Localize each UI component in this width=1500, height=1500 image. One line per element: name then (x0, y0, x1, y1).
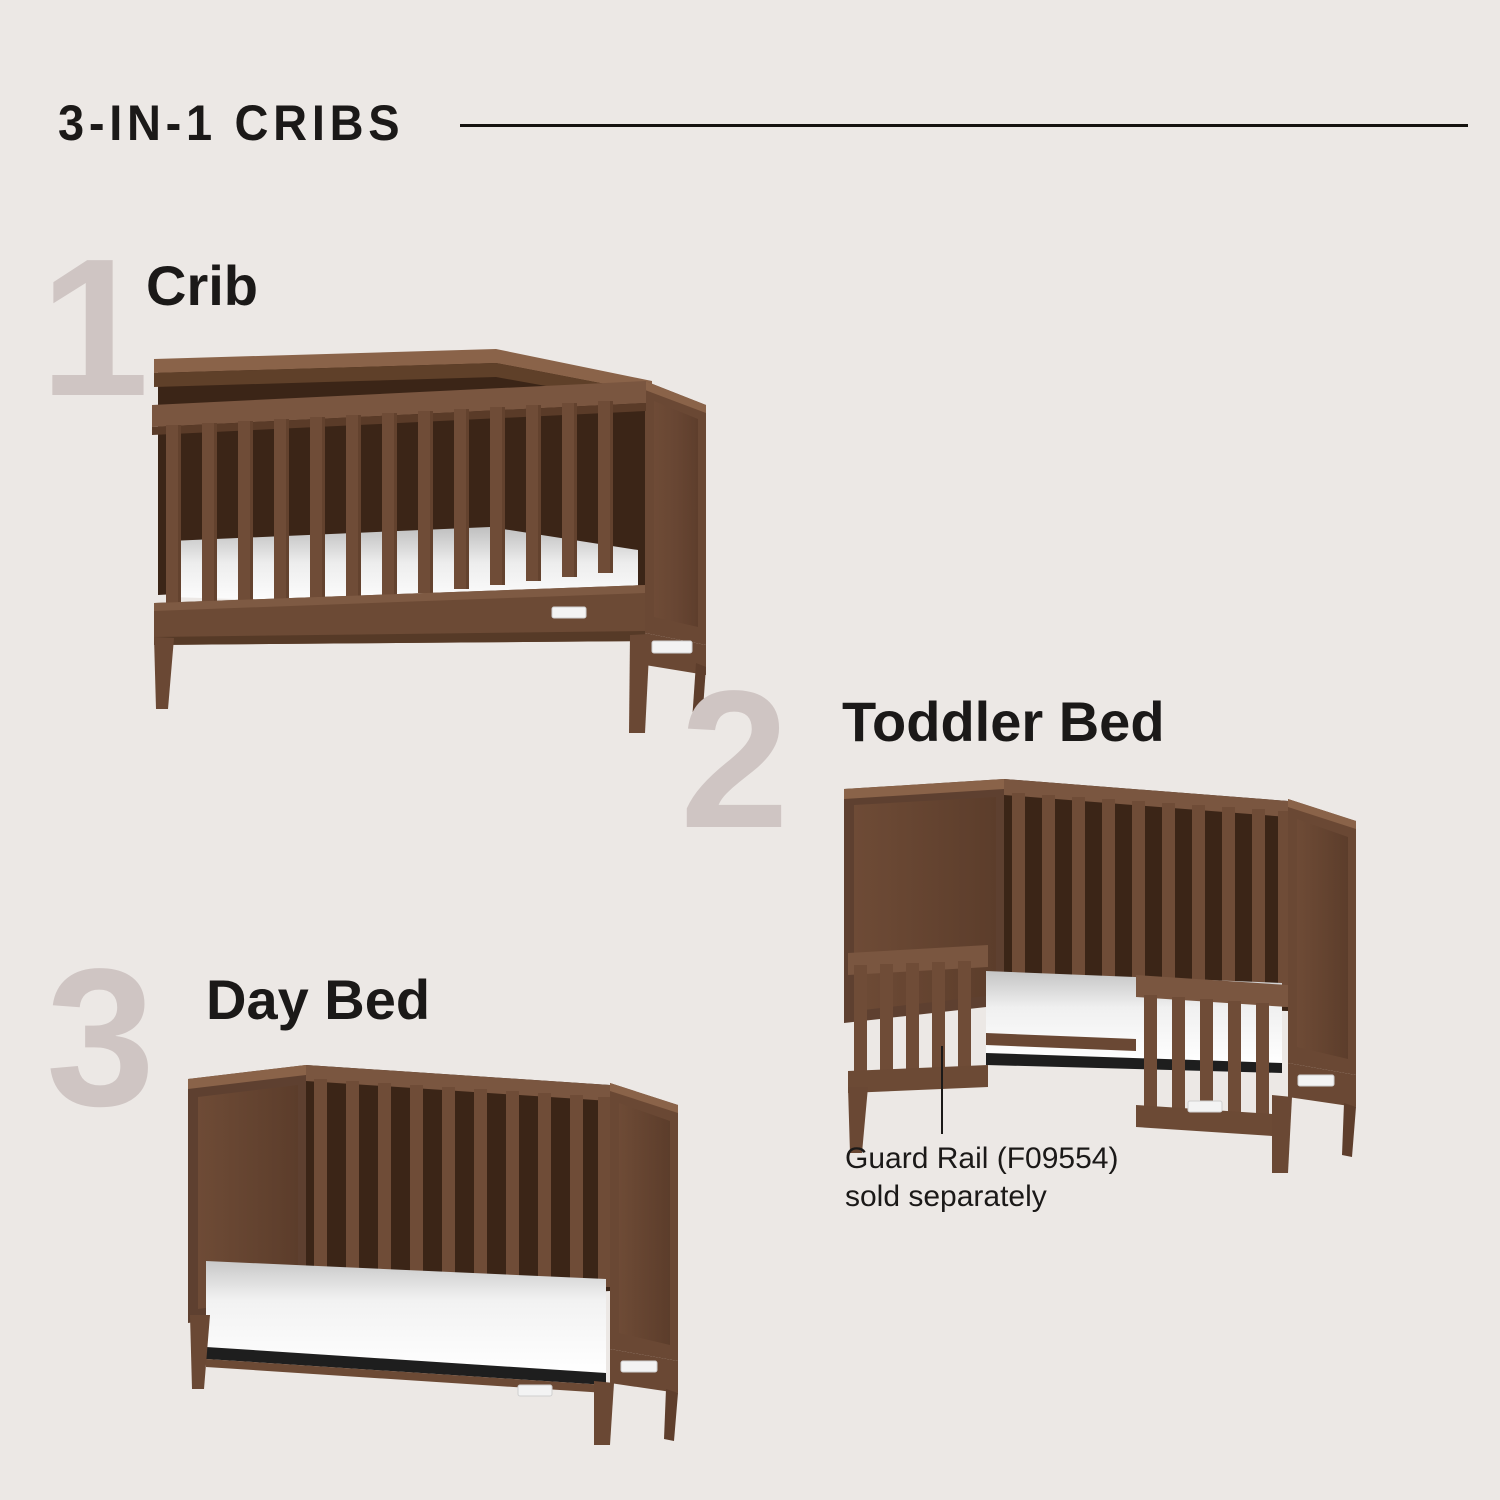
toddler-bed-illustration (836, 775, 1428, 1175)
infographic-canvas: 3-IN-1 CRIBS 1 Crib (0, 0, 1500, 1500)
step-number-2: 2 (680, 684, 785, 837)
header-divider-line (460, 124, 1468, 127)
step-label-crib: Crib (146, 258, 258, 314)
step-number-1: 1 (40, 252, 145, 405)
header: 3-IN-1 CRIBS (58, 92, 1468, 154)
crib-illustration (140, 345, 710, 735)
step-number-3: 3 (46, 962, 151, 1115)
step-label-day-bed: Day Bed (206, 972, 430, 1028)
page-title: 3-IN-1 CRIBS (58, 98, 404, 148)
day-bed-illustration (178, 1055, 748, 1445)
step-label-toddler-bed: Toddler Bed (842, 694, 1165, 750)
guard-rail-annotation: Guard Rail (F09554) sold separately (845, 1140, 1118, 1217)
guard-rail-leader-line (941, 1046, 943, 1134)
